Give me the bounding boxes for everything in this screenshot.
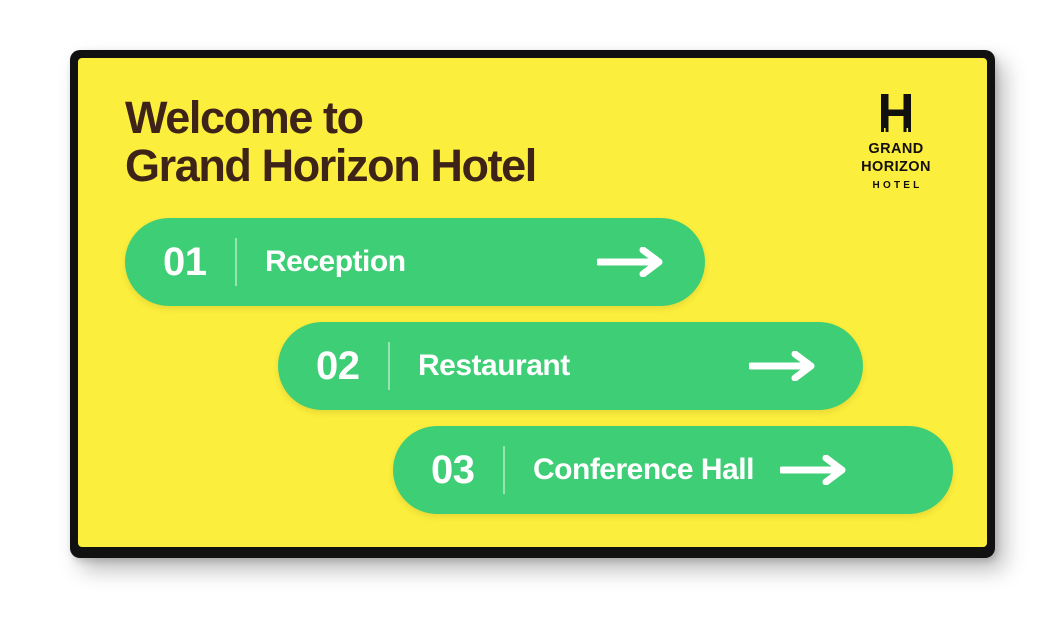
divider bbox=[235, 238, 237, 286]
directory-item-label: Conference Hall bbox=[533, 453, 754, 487]
logo-line-horizon: HORIZON bbox=[841, 159, 951, 177]
directory-item-label: Reception bbox=[265, 245, 406, 279]
divider bbox=[388, 342, 390, 390]
logo-line-hotel: HOTEL bbox=[841, 180, 951, 191]
page-title: Welcome to Grand Horizon Hotel bbox=[125, 94, 536, 189]
hotel-logo: GRAND HORIZON HOTEL bbox=[841, 92, 951, 191]
directory-list: 01 Reception 02 Restaurant 03 bbox=[78, 218, 987, 518]
sign-face: Welcome to Grand Horizon Hotel GRAND HOR… bbox=[78, 58, 987, 547]
directory-item-number: 03 bbox=[393, 448, 503, 493]
arrow-right-icon bbox=[749, 351, 817, 381]
h-monogram-icon bbox=[875, 92, 917, 134]
directory-item-reception[interactable]: 01 Reception bbox=[125, 218, 705, 306]
arrow-right-icon bbox=[780, 455, 848, 485]
directory-item-number: 02 bbox=[278, 344, 388, 389]
directory-item-conference-hall[interactable]: 03 Conference Hall bbox=[393, 426, 953, 514]
arrow-right-icon bbox=[597, 247, 665, 277]
sign-frame: Welcome to Grand Horizon Hotel GRAND HOR… bbox=[70, 50, 995, 558]
directory-item-restaurant[interactable]: 02 Restaurant bbox=[278, 322, 863, 410]
divider bbox=[503, 446, 505, 494]
directory-item-number: 01 bbox=[125, 240, 235, 285]
logo-line-grand: GRAND bbox=[841, 141, 951, 159]
directory-item-label: Restaurant bbox=[418, 349, 570, 383]
